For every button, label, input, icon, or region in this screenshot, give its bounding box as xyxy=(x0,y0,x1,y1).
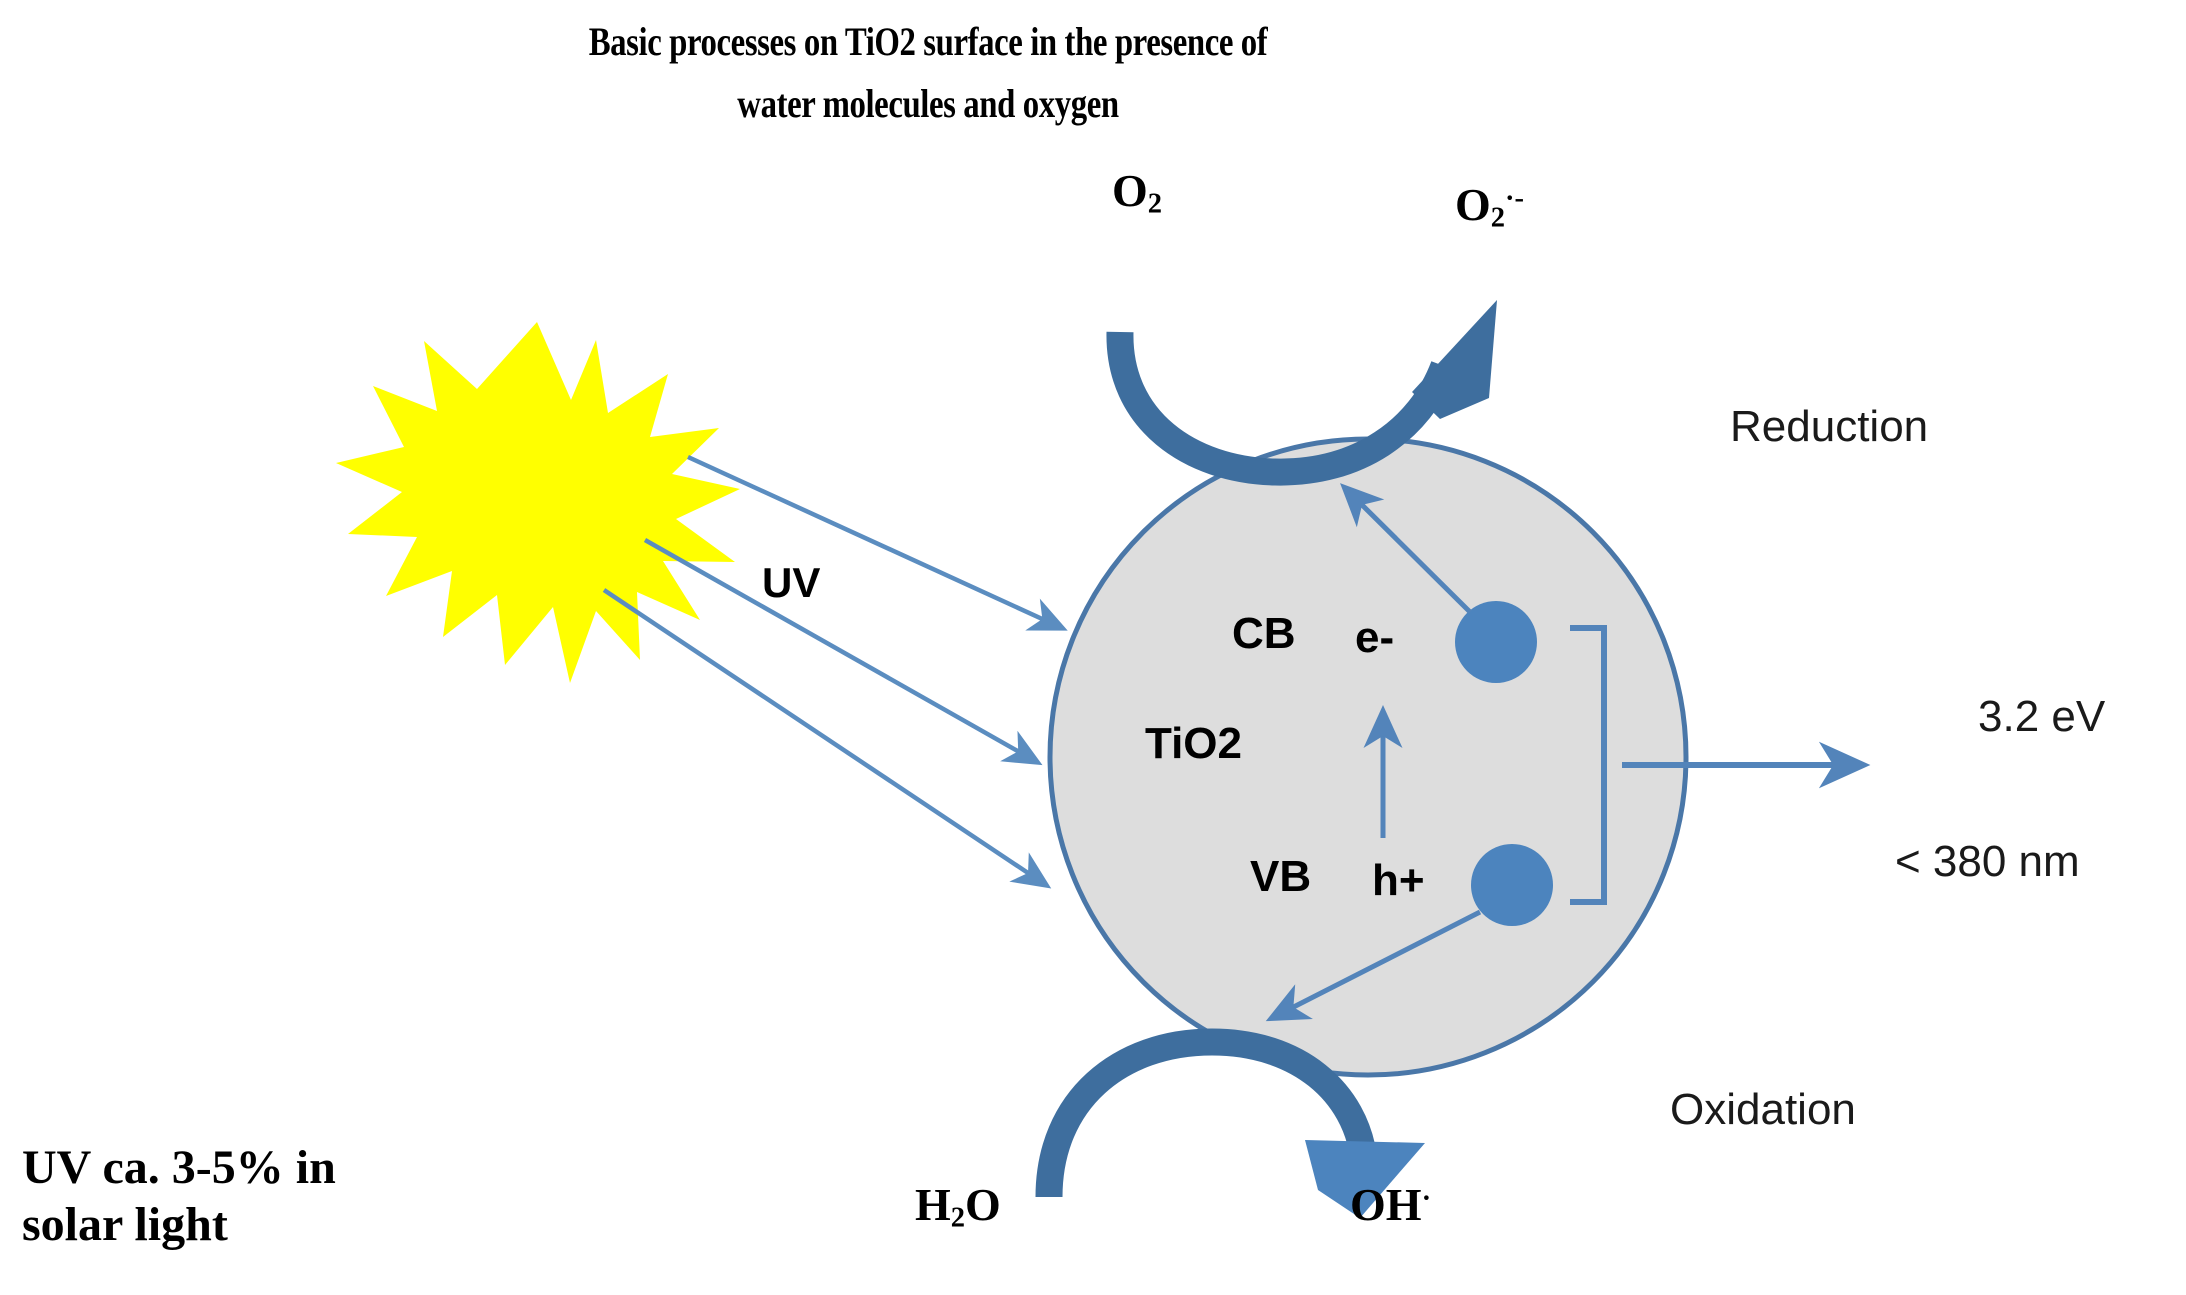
label-oxidation: Oxidation xyxy=(1670,1088,1856,1132)
label-valence-band: VB xyxy=(1250,855,1311,899)
label-tio2-material: TiO2 xyxy=(1145,722,1242,766)
sun-icon xyxy=(336,322,740,683)
hole-dot xyxy=(1471,844,1553,926)
label-oxygen: O2 xyxy=(1112,168,1162,219)
label-uv: UV xyxy=(762,562,820,604)
uv-ray-2 xyxy=(645,540,1037,762)
electron-dot xyxy=(1455,601,1537,683)
label-band-gap-energy: 3.2 eV xyxy=(1978,695,2105,739)
label-water: H2O xyxy=(915,1182,1001,1233)
label-superoxide: O2·- xyxy=(1455,182,1524,233)
label-electron: e- xyxy=(1355,616,1394,660)
label-band-gap-wavelength: < 380 nm xyxy=(1895,840,2080,884)
label-hole: h+ xyxy=(1372,859,1425,903)
uv-ray-3 xyxy=(604,590,1046,885)
label-hydroxyl-radical: OH· xyxy=(1350,1182,1431,1228)
reduction-arrowhead xyxy=(1412,300,1497,419)
diagram-artwork xyxy=(0,0,2186,1295)
diagram-canvas: Basic processes on TiO2 surface in the p… xyxy=(0,0,2186,1295)
uv-ray-1 xyxy=(688,457,1062,628)
label-uv-solar-fraction: UV ca. 3-5% in solar light xyxy=(22,1140,336,1253)
label-conduction-band: CB xyxy=(1232,612,1296,656)
label-reduction: Reduction xyxy=(1730,405,1928,449)
